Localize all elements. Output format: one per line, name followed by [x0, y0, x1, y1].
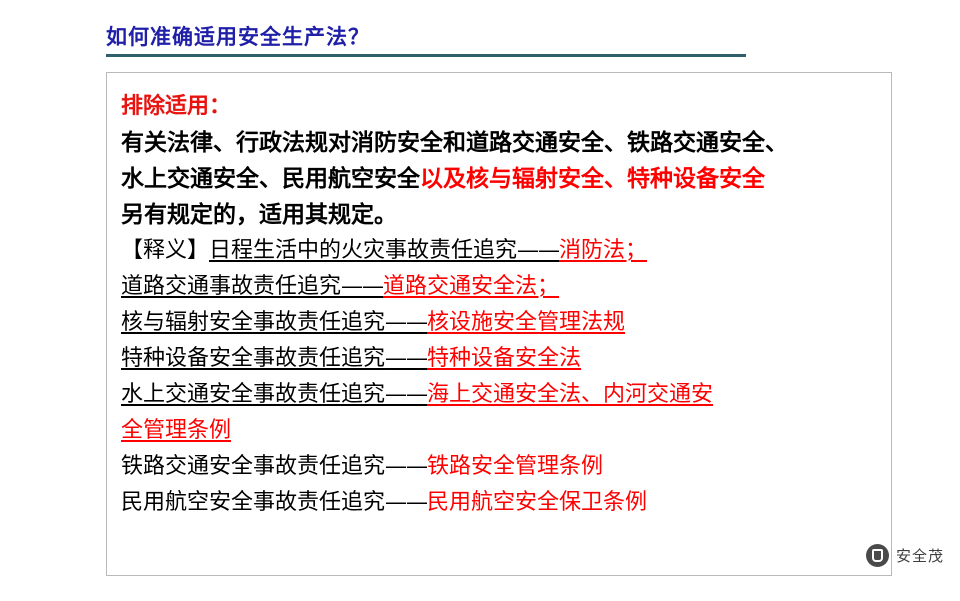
interpretation-label: 【释义】	[121, 238, 209, 263]
interpretation-cause-3: 核与辐射安全事故责任追究	[121, 310, 385, 335]
watermark-label: 安全茂	[896, 545, 944, 566]
slide-title-block: 如何准确适用安全生产法？	[106, 22, 746, 57]
interpretation-cause-7: 民用航空安全事故责任追究	[121, 490, 385, 515]
interpretation-item-7: 民用航空安全事故责任追究——民用航空安全保卫条例	[121, 485, 877, 521]
interpretation-item-5: 水上交通安全事故责任追究——海上交通安全法、内河交通安	[121, 377, 877, 413]
interpretation-law-6: 铁路安全管理条例	[427, 454, 603, 479]
interpretation-item-2: 道路交通事故责任追究——道路交通安全法；	[121, 269, 877, 305]
interpretation-dash-7: ——	[385, 490, 427, 515]
interpretation-cause-6: 铁路交通安全事故责任追究	[121, 454, 385, 479]
interpretation-law-3: 核设施安全管理法规	[427, 310, 625, 335]
interpretation-dash-6: ——	[385, 454, 427, 479]
watermark: 安全茂	[866, 544, 944, 567]
statute-line-1: 有关法律、行政法规对消防安全和道路交通安全、铁路交通安全、	[121, 125, 877, 161]
interpretation-item-4: 特种设备安全事故责任追究——特种设备安全法	[121, 341, 877, 377]
interpretation-dash-3: ——	[385, 310, 427, 335]
interpretation-law-4: 特种设备安全法	[427, 346, 581, 371]
interpretation-item-3: 核与辐射安全事故责任追究——核设施安全管理法规	[121, 305, 877, 341]
interpretation-item-1: 【释义】日程生活中的火灾事故责任追究——消防法；	[121, 233, 877, 269]
statute-line-2-black: 水上交通安全、民用航空安全	[121, 165, 420, 192]
interpretation-dash-2: ——	[341, 274, 383, 299]
interpretation-cause-1: 日程生活中的火灾事故责任追究	[209, 238, 517, 263]
content-box: 排除适用： 有关法律、行政法规对消防安全和道路交通安全、铁路交通安全、 水上交通…	[106, 72, 892, 576]
statute-line-3: 另有规定的，适用其规定。	[121, 197, 877, 233]
interpretation-law-1: 消防法；	[559, 238, 647, 263]
interpretation-item-6: 铁路交通安全事故责任追究——铁路安全管理条例	[121, 449, 877, 485]
interpretation-law-7: 民用航空安全保卫条例	[427, 490, 647, 515]
slide-root: 如何准确适用安全生产法？ 排除适用： 有关法律、行政法规对消防安全和道路交通安全…	[0, 0, 960, 601]
interpretation-item-5-cont: 全管理条例	[121, 413, 877, 449]
page-title: 如何准确适用安全生产法？	[106, 22, 746, 52]
title-underline-rule	[106, 54, 746, 57]
statute-line-2-red: 以及核与辐射安全、特种设备安全	[420, 165, 765, 192]
shield-icon	[866, 544, 889, 567]
interpretation-cause-2: 道路交通事故责任追究	[121, 274, 341, 299]
interpretation-dash-1: ——	[517, 238, 559, 263]
interpretation-law-5: 海上交通安全法、内河交通安	[427, 382, 713, 407]
interpretation-law-2: 道路交通安全法；	[383, 274, 559, 299]
interpretation-law-5-cont: 全管理条例	[121, 418, 231, 443]
interpretation-cause-4: 特种设备安全事故责任追究	[121, 346, 385, 371]
interpretation-dash-4: ——	[385, 346, 427, 371]
statute-line-2: 水上交通安全、民用航空安全以及核与辐射安全、特种设备安全	[121, 161, 877, 197]
interpretation-dash-5: ——	[385, 382, 427, 407]
interpretation-cause-5: 水上交通安全事故责任追究	[121, 382, 385, 407]
exclusion-heading: 排除适用：	[121, 89, 877, 123]
statute-line-1-text: 有关法律、行政法规对消防安全和道路交通安全、铁路交通安全、	[121, 129, 788, 156]
statute-line-3-text: 另有规定的，适用其规定。	[121, 201, 397, 228]
